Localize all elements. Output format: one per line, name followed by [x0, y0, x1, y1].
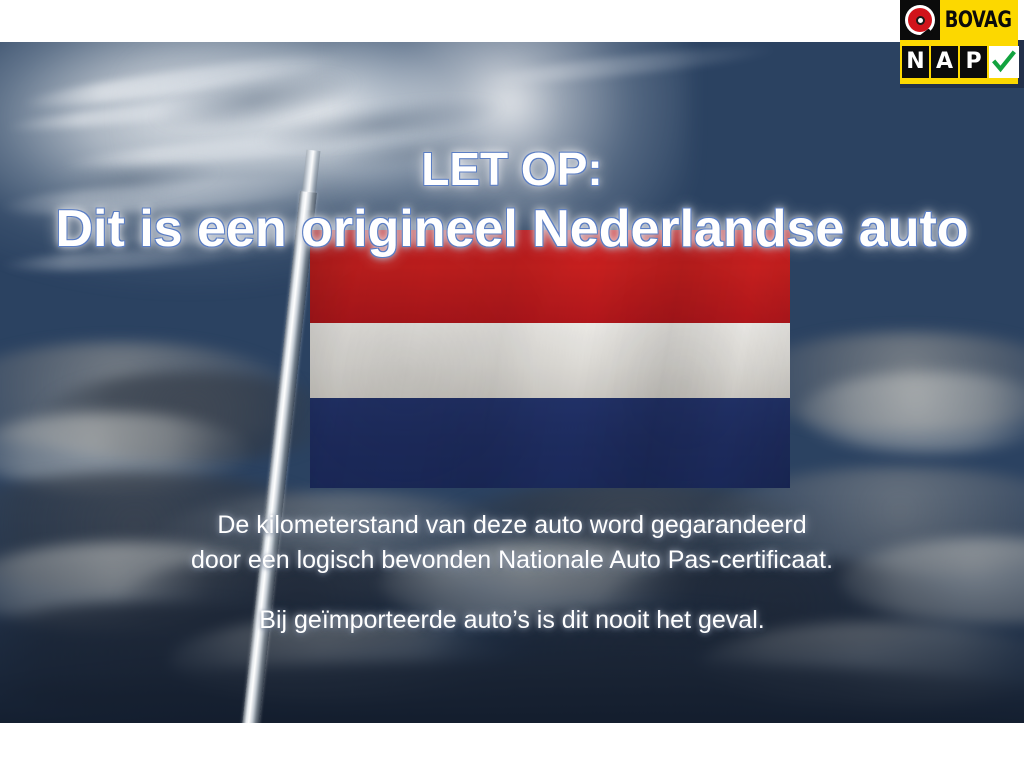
bovag-disc-shape: [905, 5, 935, 35]
nap-letter-a: A: [931, 46, 958, 78]
check-mark-icon: [989, 46, 1019, 78]
slide-canvas: LET OP: Dit is een origineel Nederlandse…: [0, 0, 1024, 768]
dutch-flag: [310, 230, 790, 488]
horizon-shadow: [0, 493, 1024, 723]
bovag-emblem-icon: [900, 0, 940, 40]
background-photo: LET OP: Dit is een origineel Nederlandse…: [0, 42, 1024, 723]
nap-logo: N A P: [900, 40, 1018, 84]
bovag-wordmark: BOVAG: [944, 8, 1014, 33]
nap-letter-n: N: [902, 46, 929, 78]
bovag-logo: BOVAG: [900, 0, 1018, 40]
certification-logos: BOVAG N A P: [900, 0, 1020, 84]
flag-wave-shading-2: [310, 230, 790, 488]
nap-letter-p: P: [960, 46, 987, 78]
flag-cloth: [310, 230, 790, 488]
